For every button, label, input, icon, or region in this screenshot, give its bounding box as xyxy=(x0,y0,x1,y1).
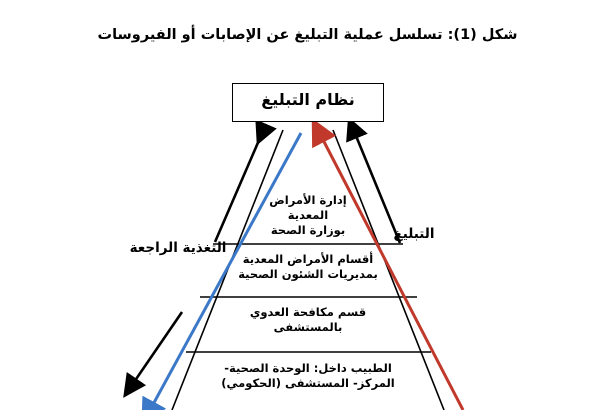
pyramid-level-3-line-2: بالمستشفى xyxy=(202,320,414,335)
pyramid-level-1-line-1: إدارة الأمراض xyxy=(212,193,404,208)
pyramid-level-1-line-2: المعدية xyxy=(212,208,404,223)
figure-title: شكل (1): تسلسل عملية التبليغ عن الإصابات… xyxy=(0,27,615,43)
pyramid-level-1: إدارة الأمراض المعدية بوزارة الصحة xyxy=(212,193,404,238)
feedback-label: التغذية الراجعة xyxy=(112,240,244,256)
pyramid-level-4: الطبيب داخل: الوحدة الصحية- المركز- المس… xyxy=(186,361,430,391)
pyramid-level-2-line-2: بمديريات الشئون الصحية xyxy=(202,267,414,282)
pyramid-level-4-line-2: المركز- المستشفى (الحكومي) xyxy=(186,376,430,391)
reporting-system-label: نظام التبليغ xyxy=(232,90,384,109)
pyramid-level-3: قسم مكافحة العدوي بالمستشفى xyxy=(202,305,414,335)
pyramid-level-2: أقسام الأمراض المعدية بمديريات الشئون ال… xyxy=(202,252,414,282)
pyramid-level-3-line-1: قسم مكافحة العدوي xyxy=(202,305,414,320)
pyramid-level-1-line-3: بوزارة الصحة xyxy=(212,223,404,238)
black-arrow-lower-left xyxy=(132,312,182,385)
pyramid-level-4-line-1: الطبيب داخل: الوحدة الصحية- xyxy=(186,361,430,376)
figure-canvas: شكل (1): تسلسل عملية التبليغ عن الإصابات… xyxy=(0,0,615,410)
reporting-label: التبليغ xyxy=(378,226,450,242)
